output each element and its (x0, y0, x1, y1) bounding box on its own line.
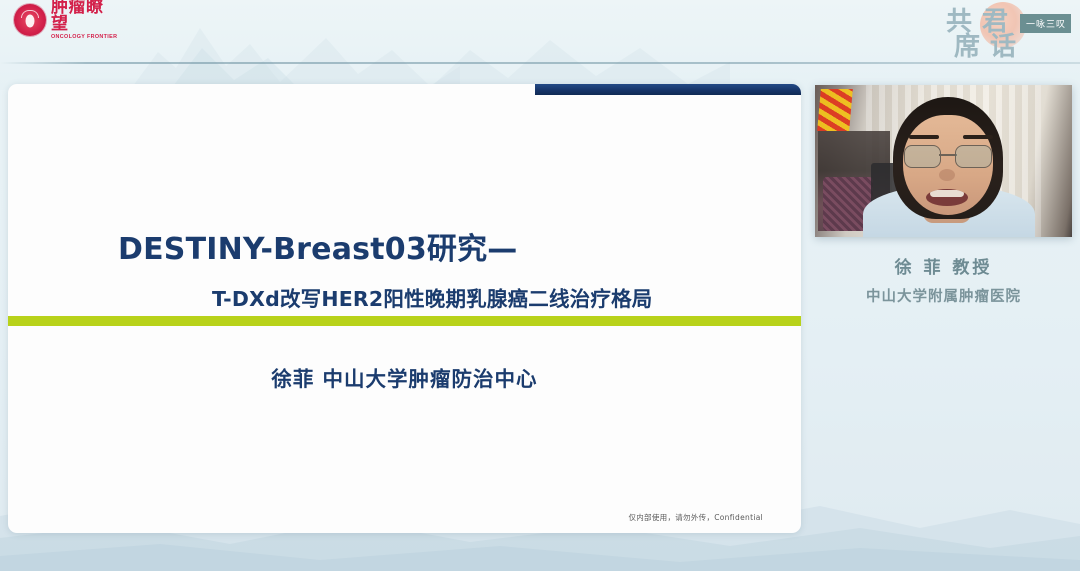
video-person-nose (939, 169, 955, 181)
video-striped-object (817, 89, 853, 131)
speaker-organization: 中山大学附属肿瘤医院 (815, 285, 1072, 306)
slide-presenter-text: 徐菲 中山大学肿瘤防治中心 (271, 367, 537, 391)
slide-title-secondary: T-DXd改写HER2阳性晚期乳腺癌二线治疗格局 (212, 282, 801, 312)
brand-logo: 肿瘤瞭望 ONCOLOGY FRONTIER (14, 3, 118, 37)
program-badge: 一咏三叹 (1020, 14, 1071, 33)
speaker-caption: 徐 菲 教授 中山大学附属肿瘤医院 (815, 253, 1072, 306)
slide-top-accent-bar (535, 84, 801, 95)
brand-logo-text: 肿瘤瞭望 ONCOLOGY FRONTIER (51, 0, 118, 41)
presentation-slide[interactable]: DESTINY-Breast03研究— T-DXd改写HER2阳性晚期乳腺癌二线… (8, 84, 801, 533)
speaker-video-tile[interactable] (815, 85, 1072, 237)
webinar-stage: 肿瘤瞭望 ONCOLOGY FRONTIER 共君 席话 一咏三叹 DESTIN… (0, 0, 1080, 571)
speaker-name: 徐 菲 教授 (815, 253, 1072, 278)
slide-title-primary: DESTINY-Breast03研究— (118, 224, 801, 268)
glasses-lens-right (955, 145, 992, 168)
background-mountain-mid (430, 14, 730, 88)
background-mountain-left (130, 8, 460, 90)
slide-title-block: DESTINY-Breast03研究— T-DXd改写HER2阳性晚期乳腺癌二线… (8, 224, 801, 312)
slide-confidential-notice: 仅内部使用，请勿外传，Confidential (628, 512, 763, 523)
calligraphy-line-2: 席话 (954, 26, 1026, 63)
video-person-eyebrow-left (909, 135, 939, 139)
slide-presenter-line: 徐菲 中山大学肿瘤防治中心 (8, 362, 801, 392)
program-title-calligraphy: 共君 席话 一咏三叹 (932, 0, 1072, 66)
slide-green-divider (8, 316, 801, 326)
video-person-glasses-icon (904, 145, 992, 166)
video-person-eyebrow-right (963, 135, 993, 139)
brand-name-cn: 肿瘤瞭望 (51, 0, 118, 33)
crab-logo-icon (14, 4, 46, 36)
glasses-lens-left (904, 145, 941, 168)
brand-name-en: ONCOLOGY FRONTIER (51, 35, 118, 40)
background-horizon-line (0, 62, 1080, 64)
video-person-mouth (926, 189, 968, 206)
